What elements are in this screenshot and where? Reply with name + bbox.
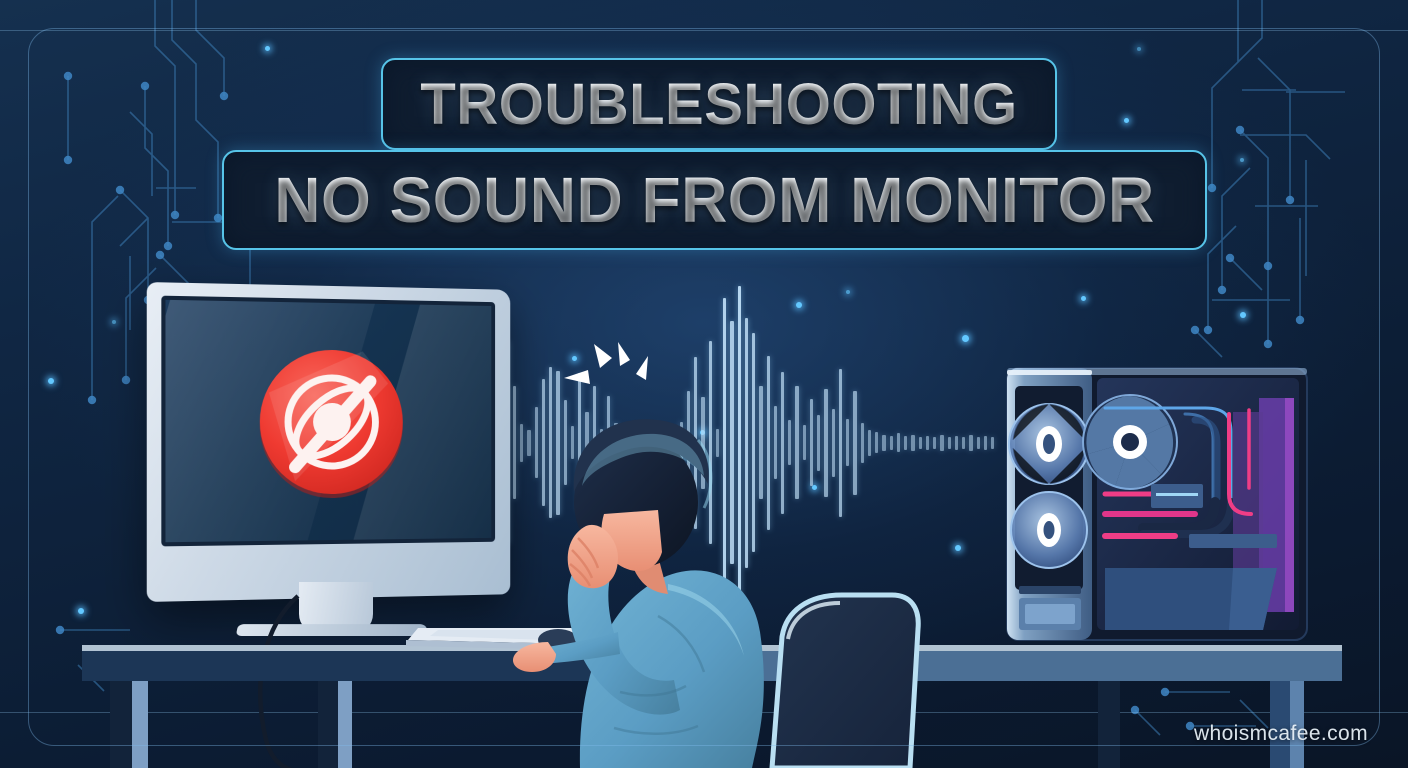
title-box-line2: NO SOUND FROM MONITOR bbox=[222, 150, 1207, 250]
hero-illustration: TROUBLESHOOTING NO SOUND FROM MONITOR wh… bbox=[0, 0, 1408, 768]
gaming-pc-tower bbox=[993, 362, 1316, 647]
title-line2: NO SOUND FROM MONITOR bbox=[274, 163, 1154, 237]
title-line1: TROUBLESHOOTING bbox=[420, 71, 1017, 138]
office-chair bbox=[742, 585, 927, 768]
title-box-line1: TROUBLESHOOTING bbox=[381, 58, 1057, 150]
watermark: whoismcafee.com bbox=[1194, 722, 1368, 746]
